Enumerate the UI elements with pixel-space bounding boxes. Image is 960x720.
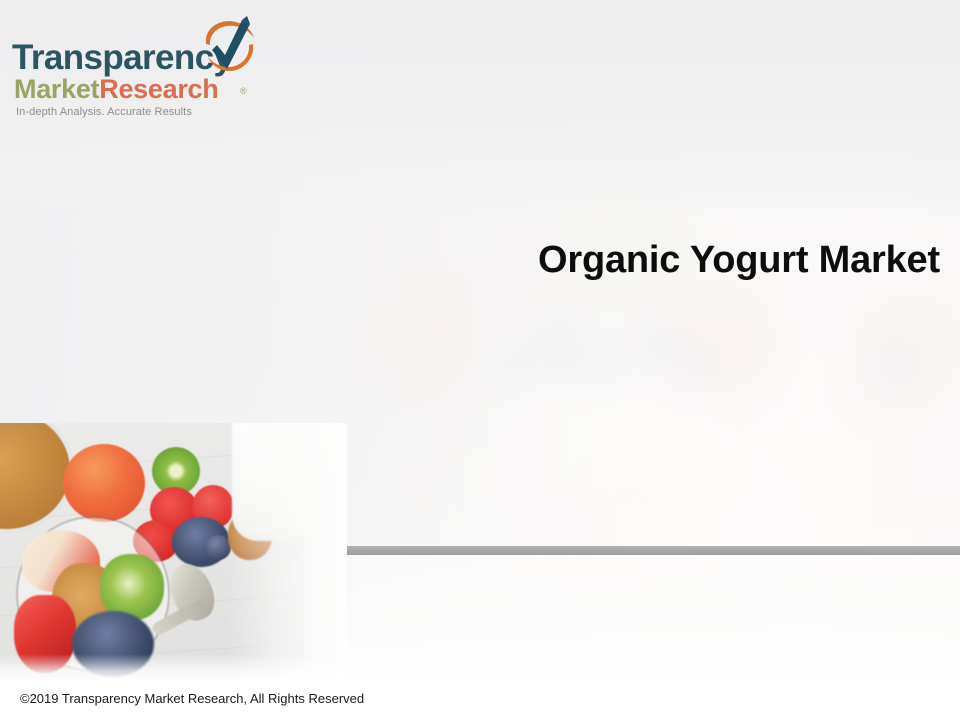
horizontal-divider-bar [275,546,960,555]
inset-bottom-fade [0,654,347,682]
checkmark-swoosh-icon [198,14,260,80]
logo-tagline: In-depth Analysis. Accurate Results [16,106,192,118]
inset-photo-granola-fruit-bowl [0,423,347,682]
logo-word-market: Market [14,74,99,104]
page-title: Organic Yogurt Market [538,241,940,281]
inset-right-fade [227,423,347,682]
registered-trademark-symbol: ® [240,86,247,96]
footer-copyright: ©2019 Transparency Market Research, All … [20,691,364,706]
red-apple [63,444,145,522]
presentation-slide: Transparency MarketResearch In-depth Ana… [0,0,960,720]
company-logo[interactable]: Transparency MarketResearch In-depth Ana… [12,24,262,124]
logo-wordmark-market-research: MarketResearch [14,76,218,103]
